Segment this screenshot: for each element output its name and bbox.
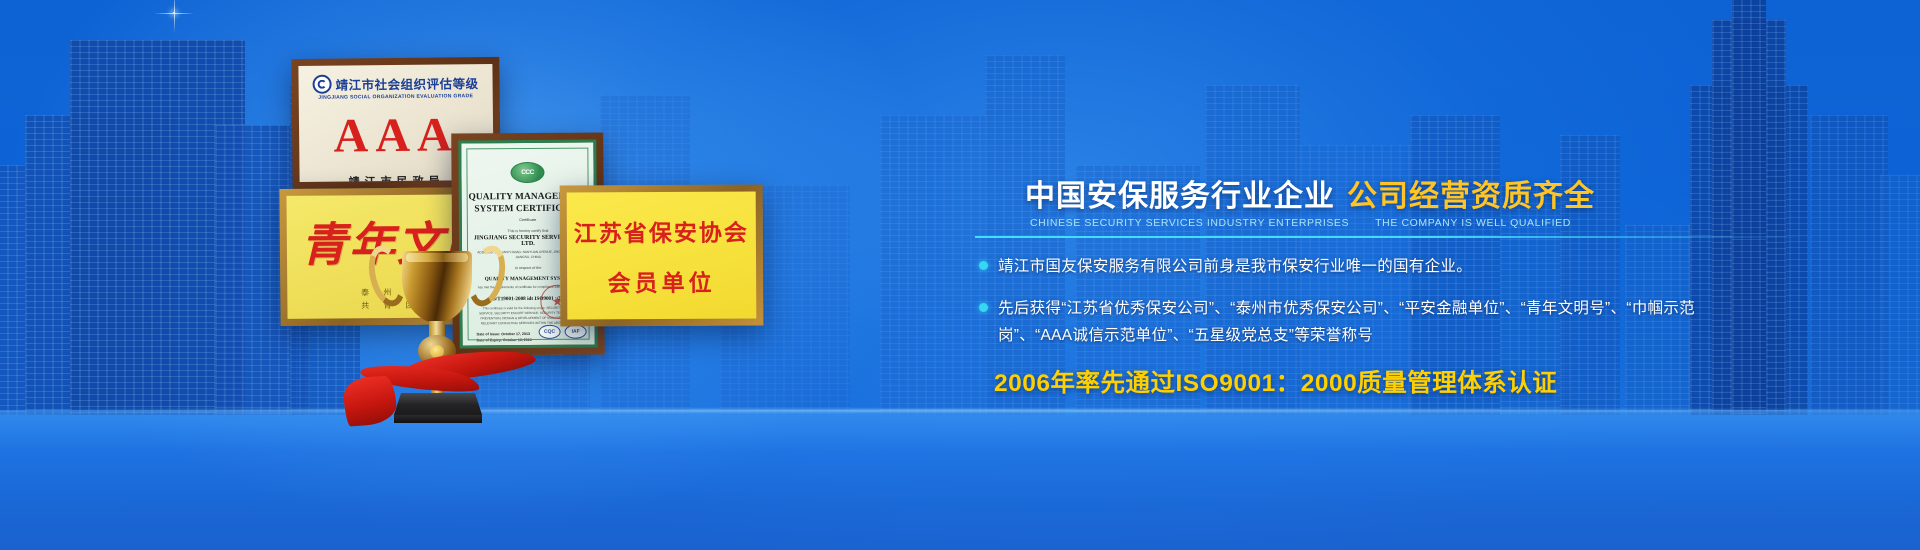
aaa-title-cn: 靖江市社会组织评估等级 bbox=[335, 73, 478, 93]
divider-line bbox=[975, 236, 1815, 238]
subtitle-english-1: CHINESE SECURITY SERVICES INDUSTRY ENTER… bbox=[1030, 217, 1349, 229]
list-item: 先后获得“江苏省优秀保安公司”、“泰州市优秀保安公司”、“平安金融单位”、“青年… bbox=[979, 296, 1875, 349]
aaa-certificate-header: 靖江市社会组织评估等级 bbox=[298, 73, 492, 94]
qms-seal-icon bbox=[510, 162, 544, 183]
aaa-title-en: JINGJIANG SOCIAL ORGANIZATION EVALUATION… bbox=[299, 93, 493, 101]
iaf-badge-icon: IAF bbox=[565, 325, 587, 339]
assoc-plaque-line2: 会员单位 bbox=[608, 263, 716, 298]
headline-primary: 中国安保服务行业企业 bbox=[1025, 171, 1335, 215]
assoc-plaque-line1: 江苏省保安协会 bbox=[574, 213, 749, 248]
jiangsu-security-association-plaque: 江苏省保安协会 会员单位 bbox=[560, 184, 764, 326]
bullet-dot-icon bbox=[979, 261, 988, 270]
cqc-badge-icon: CQC bbox=[539, 325, 561, 339]
subtitle-row: CHINESE SECURITY SERVICES INDUSTRY ENTER… bbox=[1030, 217, 1875, 229]
bullet-dot-icon bbox=[979, 303, 988, 312]
banner-copy-block: 中国安保服务行业企业 公司经营资质齐全 CHINESE SECURITY SER… bbox=[975, 0, 1875, 550]
red-ribbon-icon bbox=[344, 351, 540, 423]
certificates-collage: 靖江市社会组织评估等级 JINGJIANG SOCIAL ORGANIZATIO… bbox=[0, 0, 830, 550]
list-item: 靖江市国友保安服务有限公司前身是我市保安行业唯一的国有企业。 bbox=[979, 254, 1875, 281]
headline-secondary: 公司经营资质齐全 bbox=[1347, 171, 1595, 215]
promotional-banner: 靖江市社会组织评估等级 JINGJIANG SOCIAL ORGANIZATIO… bbox=[0, 0, 1920, 550]
bullet-list: 靖江市国友保安服务有限公司前身是我市保安行业唯一的国有企业。 先后获得“江苏省优… bbox=[979, 254, 1875, 350]
trophy-icon bbox=[372, 243, 502, 433]
subtitle-english-2: THE COMPANY IS WELL QUALIFIED bbox=[1375, 217, 1571, 229]
headline-row: 中国安保服务行业企业 公司经营资质齐全 bbox=[1025, 171, 1875, 215]
iso-certification-highlight: 2006年率先通过ISO9001：2000质量管理体系认证 bbox=[994, 364, 1875, 399]
accreditation-badges: CQC IAF bbox=[539, 325, 587, 339]
aaa-seal-icon bbox=[312, 75, 331, 94]
trophy-bowl bbox=[402, 251, 472, 323]
bullet-text-1: 靖江市国友保安服务有限公司前身是我市保安行业唯一的国有企业。 bbox=[998, 254, 1472, 281]
bullet-text-2: 先后获得“江苏省优秀保安公司”、“泰州市优秀保安公司”、“平安金融单位”、“青年… bbox=[998, 296, 1738, 349]
